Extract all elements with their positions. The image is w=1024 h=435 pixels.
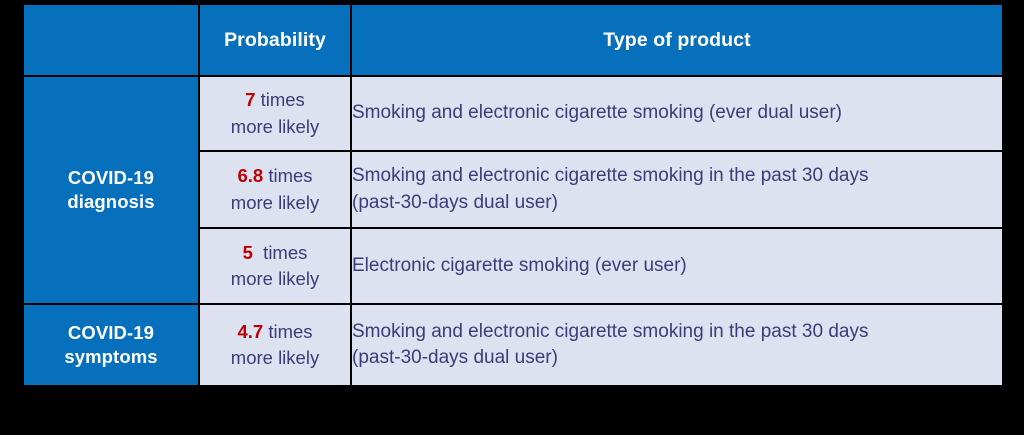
probability-line2: more likely <box>200 190 350 216</box>
probability-cell: 5 times more likely <box>199 228 351 304</box>
probability-line1: 5 times <box>200 240 350 266</box>
probability-value: 7 <box>245 89 255 110</box>
covid-risk-table: Probability Type of product COVID-19 dia… <box>22 3 1004 387</box>
probability-cell: 6.8 times more likely <box>199 151 351 228</box>
screenshot-canvas: Probability Type of product COVID-19 dia… <box>0 0 1024 435</box>
table-header-row: Probability Type of product <box>23 4 1003 76</box>
probability-line1: 6.8 times <box>200 163 350 189</box>
product-text-line2: (past-30-days dual user) <box>352 190 1002 216</box>
category-cell-covid-19-symptoms: COVID-19 symptoms <box>23 304 199 386</box>
probability-unit: times <box>253 242 307 263</box>
probability-line2: more likely <box>200 114 350 140</box>
category-label-line2: diagnosis <box>24 190 198 214</box>
probability-value: 6.8 <box>237 165 263 186</box>
category-label-line1: COVID-19 <box>24 166 198 190</box>
product-cell: Smoking and electronic cigarette smoking… <box>351 76 1003 151</box>
probability-value: 5 <box>243 242 253 263</box>
probability-line2: more likely <box>200 345 350 371</box>
header-cell-probability: Probability <box>199 4 351 76</box>
product-text-line1: Smoking and electronic cigarette smoking… <box>352 319 1002 345</box>
product-cell: Smoking and electronic cigarette smoking… <box>351 304 1003 386</box>
probability-value: 4.7 <box>237 321 263 342</box>
header-cell-type-of-product: Type of product <box>351 4 1003 76</box>
probability-line2: more likely <box>200 266 350 292</box>
product-cell: Smoking and electronic cigarette smoking… <box>351 151 1003 228</box>
product-text-line1: Smoking and electronic cigarette smoking… <box>352 163 1002 189</box>
header-cell-category <box>23 4 199 76</box>
table-row: COVID-19 diagnosis 7 times more likely S… <box>23 76 1003 151</box>
table-row: COVID-19 symptoms 4.7 times more likely … <box>23 304 1003 386</box>
probability-line1: 7 times <box>200 87 350 113</box>
probability-cell: 7 times more likely <box>199 76 351 151</box>
probability-cell: 4.7 times more likely <box>199 304 351 386</box>
category-label-line2: symptoms <box>24 345 198 369</box>
category-cell-covid-19-diagnosis: COVID-19 diagnosis <box>23 76 199 304</box>
probability-unit: times <box>263 165 312 186</box>
probability-line1: 4.7 times <box>200 319 350 345</box>
product-text-line1: Electronic cigarette smoking (ever user) <box>352 255 687 276</box>
category-label-line1: COVID-19 <box>24 321 198 345</box>
probability-unit: times <box>263 321 312 342</box>
probability-unit: times <box>255 89 304 110</box>
product-text-line1: Smoking and electronic cigarette smoking… <box>352 102 842 123</box>
product-text-line2: (past-30-days dual user) <box>352 345 1002 371</box>
product-cell: Electronic cigarette smoking (ever user) <box>351 228 1003 304</box>
